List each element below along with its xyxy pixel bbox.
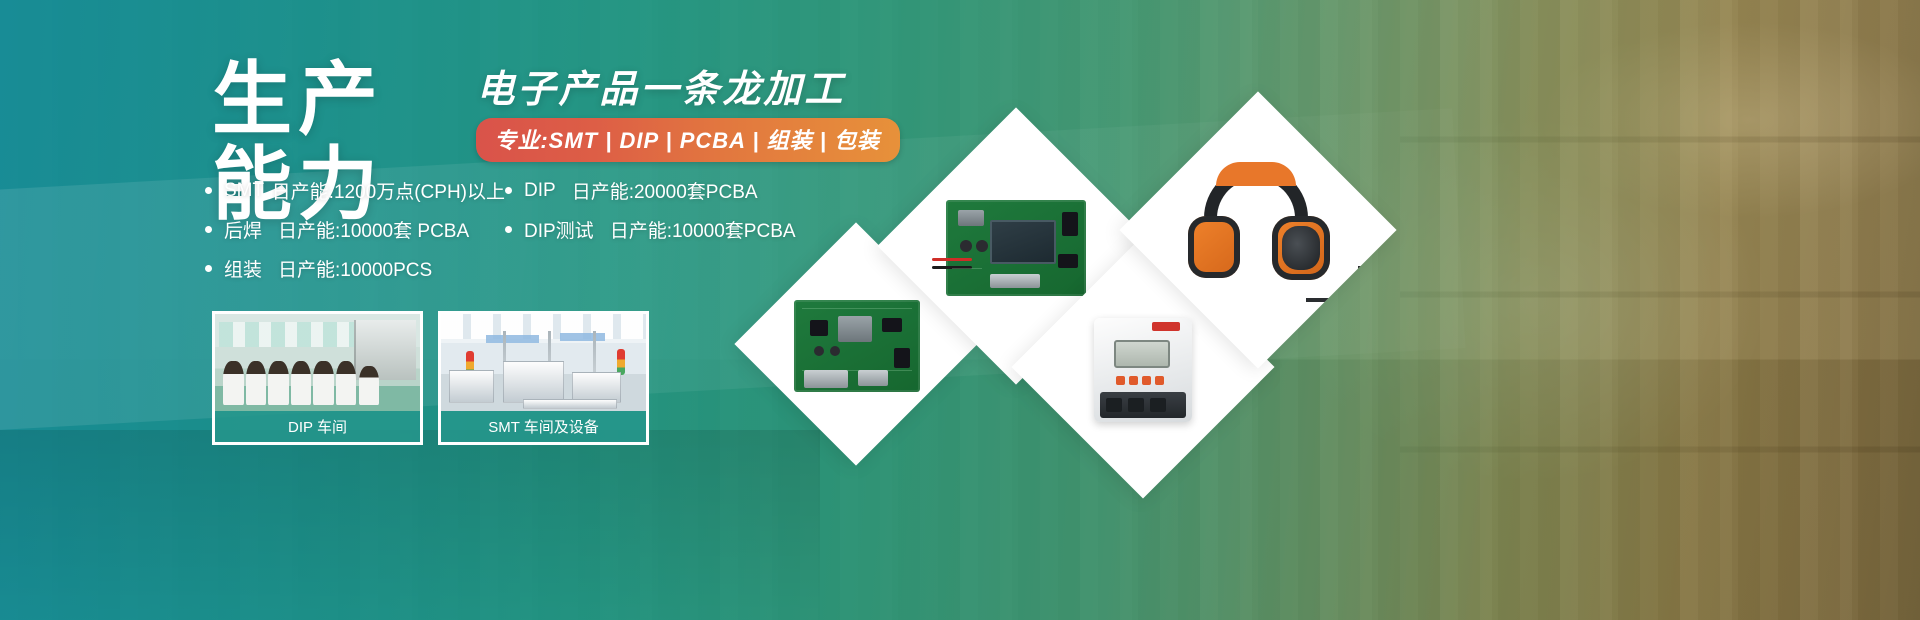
dip-workshop-card[interactable]: DIP 车间: [212, 311, 423, 445]
capability-value: 日产能:1200万点(CPH)以上: [272, 177, 505, 204]
dip-workshop-photo: [212, 311, 423, 411]
dip-workshop-caption: DIP 车间: [212, 411, 423, 445]
capability-value: 日产能:10000PCS: [278, 255, 432, 282]
capability-value: 日产能:20000套PCBA: [572, 177, 758, 204]
smt-workshop-card[interactable]: SMT 车间及设备: [438, 311, 649, 445]
capability-value: 日产能:10000套 PCBA: [278, 216, 469, 243]
capability-label: SMT: [224, 180, 264, 202]
banner-content: 生产能力 电子产品一条龙加工 专业:SMT | DIP | PCBA | 组装 …: [0, 0, 900, 620]
capability-label: 后焊: [224, 216, 262, 243]
list-item: 后焊 日产能:10000套 PCBA: [205, 215, 505, 244]
banner-subtitle: 电子产品一条龙加工: [476, 70, 900, 112]
list-item: DIP测试 日产能:10000套PCBA: [505, 215, 825, 244]
smt-workshop-caption: SMT 车间及设备: [438, 411, 649, 445]
bullet-dot-icon: [505, 187, 512, 194]
bullet-dot-icon: [205, 226, 212, 233]
capability-lists: SMT 日产能:1200万点(CPH)以上 后焊 日产能:10000套 PCBA…: [205, 176, 825, 293]
list-item: 组装 日产能:10000PCS: [205, 254, 505, 283]
services-badge: 专业:SMT | DIP | PCBA | 组装 | 包装: [476, 118, 900, 162]
capability-label: DIP: [524, 180, 556, 202]
workshop-photo-cards: DIP 车间: [212, 311, 649, 445]
bullet-dot-icon: [205, 187, 212, 194]
capability-column-left: SMT 日产能:1200万点(CPH)以上 后焊 日产能:10000套 PCBA…: [205, 176, 505, 293]
capability-label: 组装: [224, 255, 262, 282]
capability-value: 日产能:10000套PCBA: [610, 216, 796, 243]
capability-column-right: DIP 日产能:20000套PCBA DIP测试 日产能:10000套PCBA: [505, 176, 825, 293]
bullet-dot-icon: [205, 265, 212, 272]
subtitle-group: 电子产品一条龙加工 专业:SMT | DIP | PCBA | 组装 | 包装: [476, 70, 900, 162]
smt-workshop-photo: [438, 311, 649, 411]
list-item: SMT 日产能:1200万点(CPH)以上: [205, 176, 505, 205]
list-item: DIP 日产能:20000套PCBA: [505, 176, 825, 205]
production-capacity-banner: 生产能力 电子产品一条龙加工 专业:SMT | DIP | PCBA | 组装 …: [0, 0, 1920, 620]
capability-label: DIP测试: [524, 216, 594, 243]
bullet-dot-icon: [505, 226, 512, 233]
